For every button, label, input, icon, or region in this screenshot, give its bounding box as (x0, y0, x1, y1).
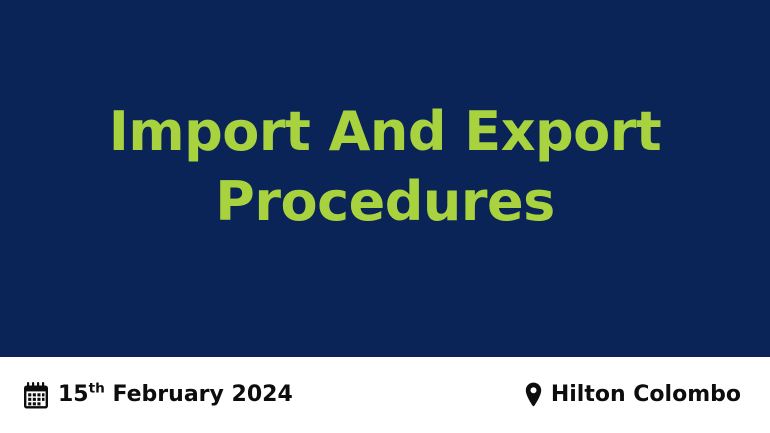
event-venue-label: Hilton Colombo (551, 384, 741, 406)
page-title: Import And Export Procedures (85, 97, 685, 237)
event-date-ordinal: th (89, 381, 105, 397)
calendar-icon (23, 382, 49, 409)
event-date-day: 15 (58, 382, 89, 407)
event-date: 15th February 2024 (23, 382, 293, 409)
map-pin-icon (525, 382, 542, 408)
title-slide: Import And Export Procedures (0, 0, 770, 433)
footer-bar: 15th February 2024 Hilton Colombo (0, 357, 770, 433)
hero-panel: Import And Export Procedures (0, 0, 770, 357)
event-venue: Hilton Colombo (525, 382, 741, 408)
event-date-month-year: February 2024 (105, 382, 293, 407)
event-date-label: 15th February 2024 (58, 384, 293, 406)
